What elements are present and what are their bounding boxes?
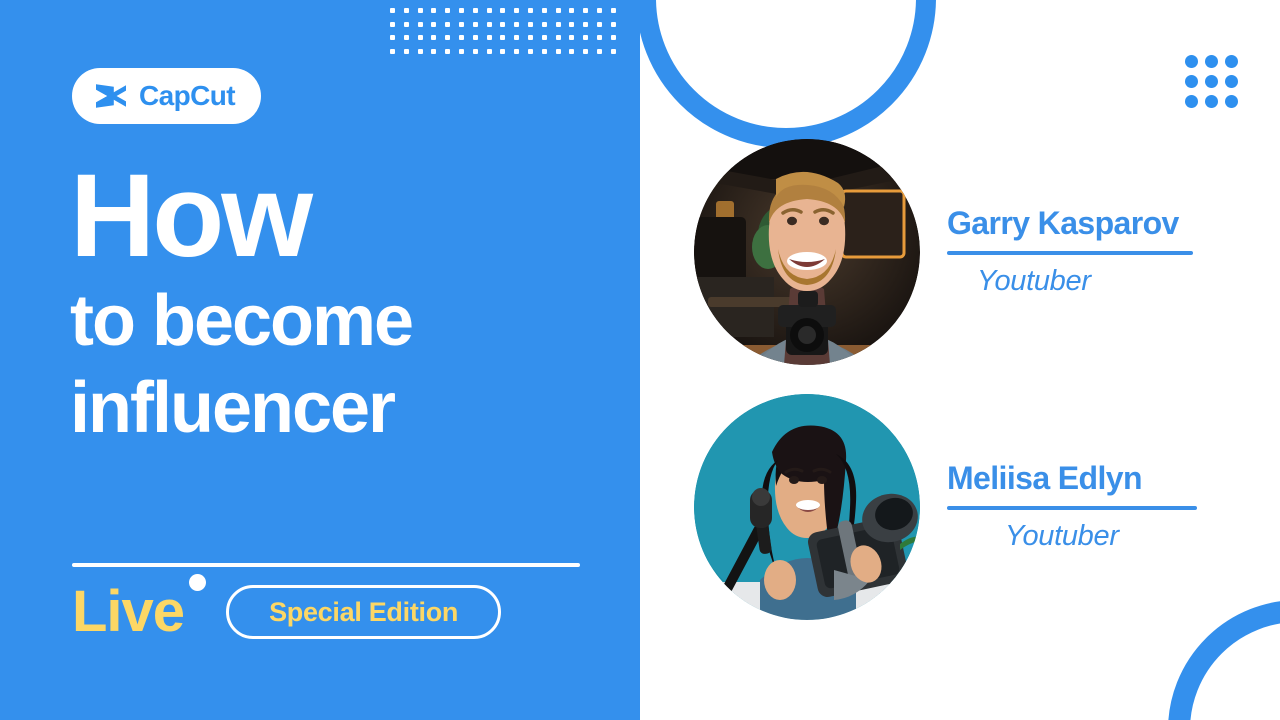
- speaker-name-underline: [947, 506, 1197, 510]
- avatar: [694, 394, 920, 620]
- live-text: Live: [72, 579, 184, 644]
- dot-grid-pattern-icon: [390, 8, 625, 62]
- headline-line-2: to become: [70, 284, 630, 359]
- live-dot-icon: [189, 574, 206, 591]
- speaker-name: Garry Kasparov: [947, 203, 1193, 243]
- speaker-info: Meliisa Edlyn Youtuber: [947, 458, 1197, 557]
- headline-divider: [72, 563, 580, 567]
- speaker-name-underline: [947, 251, 1193, 255]
- speaker-card-2[interactable]: Meliisa Edlyn Youtuber: [694, 394, 1197, 620]
- capcut-logo-badge[interactable]: CapCut: [72, 68, 261, 124]
- headline-block: How to become influencer: [70, 160, 630, 446]
- avatar: [694, 139, 920, 365]
- special-edition-label: Special Edition: [269, 597, 458, 628]
- speaker-role: Youtuber: [977, 267, 1193, 296]
- corner-dot-grid-icon: [1185, 55, 1245, 115]
- special-edition-pill[interactable]: Special Edition: [226, 585, 501, 639]
- speaker-info: Garry Kasparov Youtuber: [947, 203, 1193, 302]
- poster-canvas: CapCut How to become influencer Live Spe…: [0, 0, 1280, 720]
- left-blue-panel: CapCut How to become influencer Live Spe…: [0, 0, 640, 720]
- capcut-hourglass-icon: [94, 81, 128, 111]
- live-badge-row: Live Special Edition: [72, 583, 501, 641]
- headline-line-1: How: [70, 160, 630, 272]
- capcut-wordmark: CapCut: [139, 82, 235, 110]
- speaker-name: Meliisa Edlyn: [947, 458, 1197, 498]
- speaker-role: Youtuber: [1005, 522, 1197, 551]
- live-label: Live: [72, 583, 184, 641]
- headline-line-3: influencer: [70, 371, 630, 446]
- speaker-card-1[interactable]: Garry Kasparov Youtuber: [694, 139, 1193, 365]
- arc-top-decoration: [636, 0, 936, 148]
